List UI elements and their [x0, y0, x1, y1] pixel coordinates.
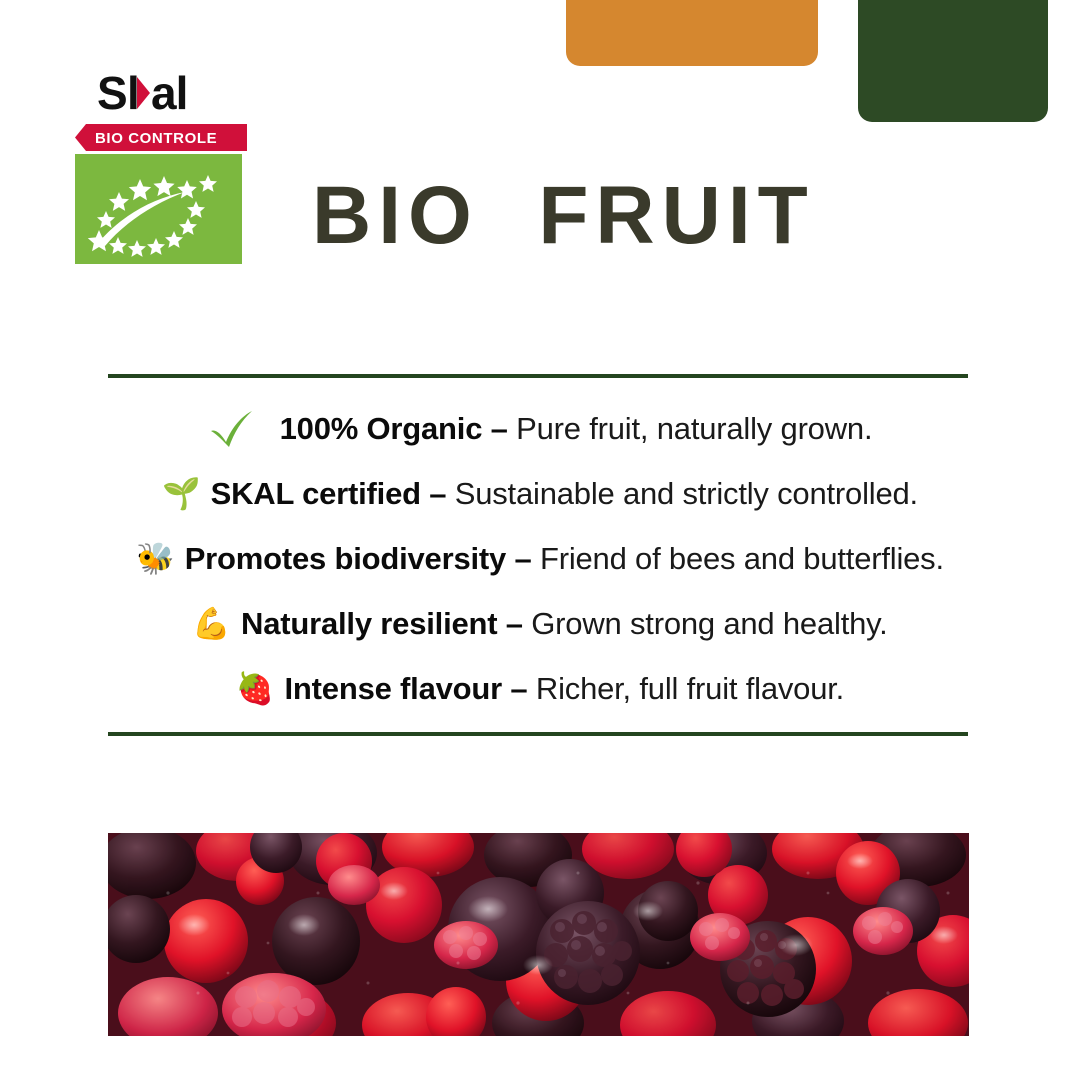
list-item-text: 100% Organic – Pure fruit, naturally gro… [280, 409, 873, 449]
list-item-dash: – [502, 671, 536, 706]
list-item-rest: Pure fruit, naturally grown. [516, 411, 872, 446]
berry-photo [108, 833, 969, 1036]
list-item: 🌱 SKAL certified – Sustainable and stric… [0, 461, 1080, 526]
svg-text:BIO CONTROLE: BIO CONTROLE [95, 130, 217, 147]
list-item-lead: Intense flavour [285, 671, 503, 706]
list-item: 🐝 Promotes biodiversity – Friend of bees… [0, 526, 1080, 591]
eu-organic-euroleaf-logo [75, 154, 242, 264]
page-title: BIO FRUIT [312, 168, 815, 264]
check-mark-icon [208, 409, 254, 449]
list-item: 💪 Naturally resilient – Grown strong and… [0, 591, 1080, 656]
flexed-biceps-icon: 💪 [192, 608, 231, 639]
list-item: 🍓 Intense flavour – Richer, full fruit f… [0, 656, 1080, 721]
list-item: 100% Organic – Pure fruit, naturally gro… [0, 396, 1080, 461]
strawberry-icon: 🍓 [236, 673, 275, 704]
list-item-dash: – [421, 476, 455, 511]
svg-text:S: S [97, 68, 127, 119]
list-item-rest: Friend of bees and butterflies. [540, 541, 944, 576]
list-item-text: Intense flavour – Richer, full fruit fla… [285, 669, 845, 709]
certification-logo-lockup: S l al BIO CONTROLE [75, 68, 250, 264]
divider-bottom [108, 732, 968, 736]
list-item-lead: Naturally resilient [241, 606, 497, 641]
skal-wordmark: S l al [97, 68, 250, 120]
benefit-list: 100% Organic – Pure fruit, naturally gro… [0, 396, 1080, 721]
list-item-dash: – [497, 606, 531, 641]
decorative-block-orange [566, 0, 818, 66]
list-item-lead: 100% Organic [280, 411, 483, 446]
list-item-rest: Richer, full fruit flavour. [536, 671, 844, 706]
seedling-icon: 🌱 [162, 478, 201, 509]
svg-text:al: al [151, 68, 187, 119]
honeybee-icon: 🐝 [136, 543, 175, 574]
list-item-text: Naturally resilient – Grown strong and h… [241, 604, 888, 644]
list-item-rest: Sustainable and strictly controlled. [455, 476, 918, 511]
bio-controle-banner: BIO CONTROLE [75, 124, 247, 151]
decorative-block-green [858, 0, 1048, 122]
list-item-dash: – [506, 541, 540, 576]
divider-top [108, 374, 968, 378]
list-item-lead: SKAL certified [211, 476, 421, 511]
list-item-text: SKAL certified – Sustainable and strictl… [211, 474, 918, 514]
list-item-text: Promotes biodiversity – Friend of bees a… [185, 539, 944, 579]
list-item-lead: Promotes biodiversity [185, 541, 506, 576]
list-item-rest: Grown strong and healthy. [531, 606, 887, 641]
list-item-dash: – [482, 411, 516, 446]
